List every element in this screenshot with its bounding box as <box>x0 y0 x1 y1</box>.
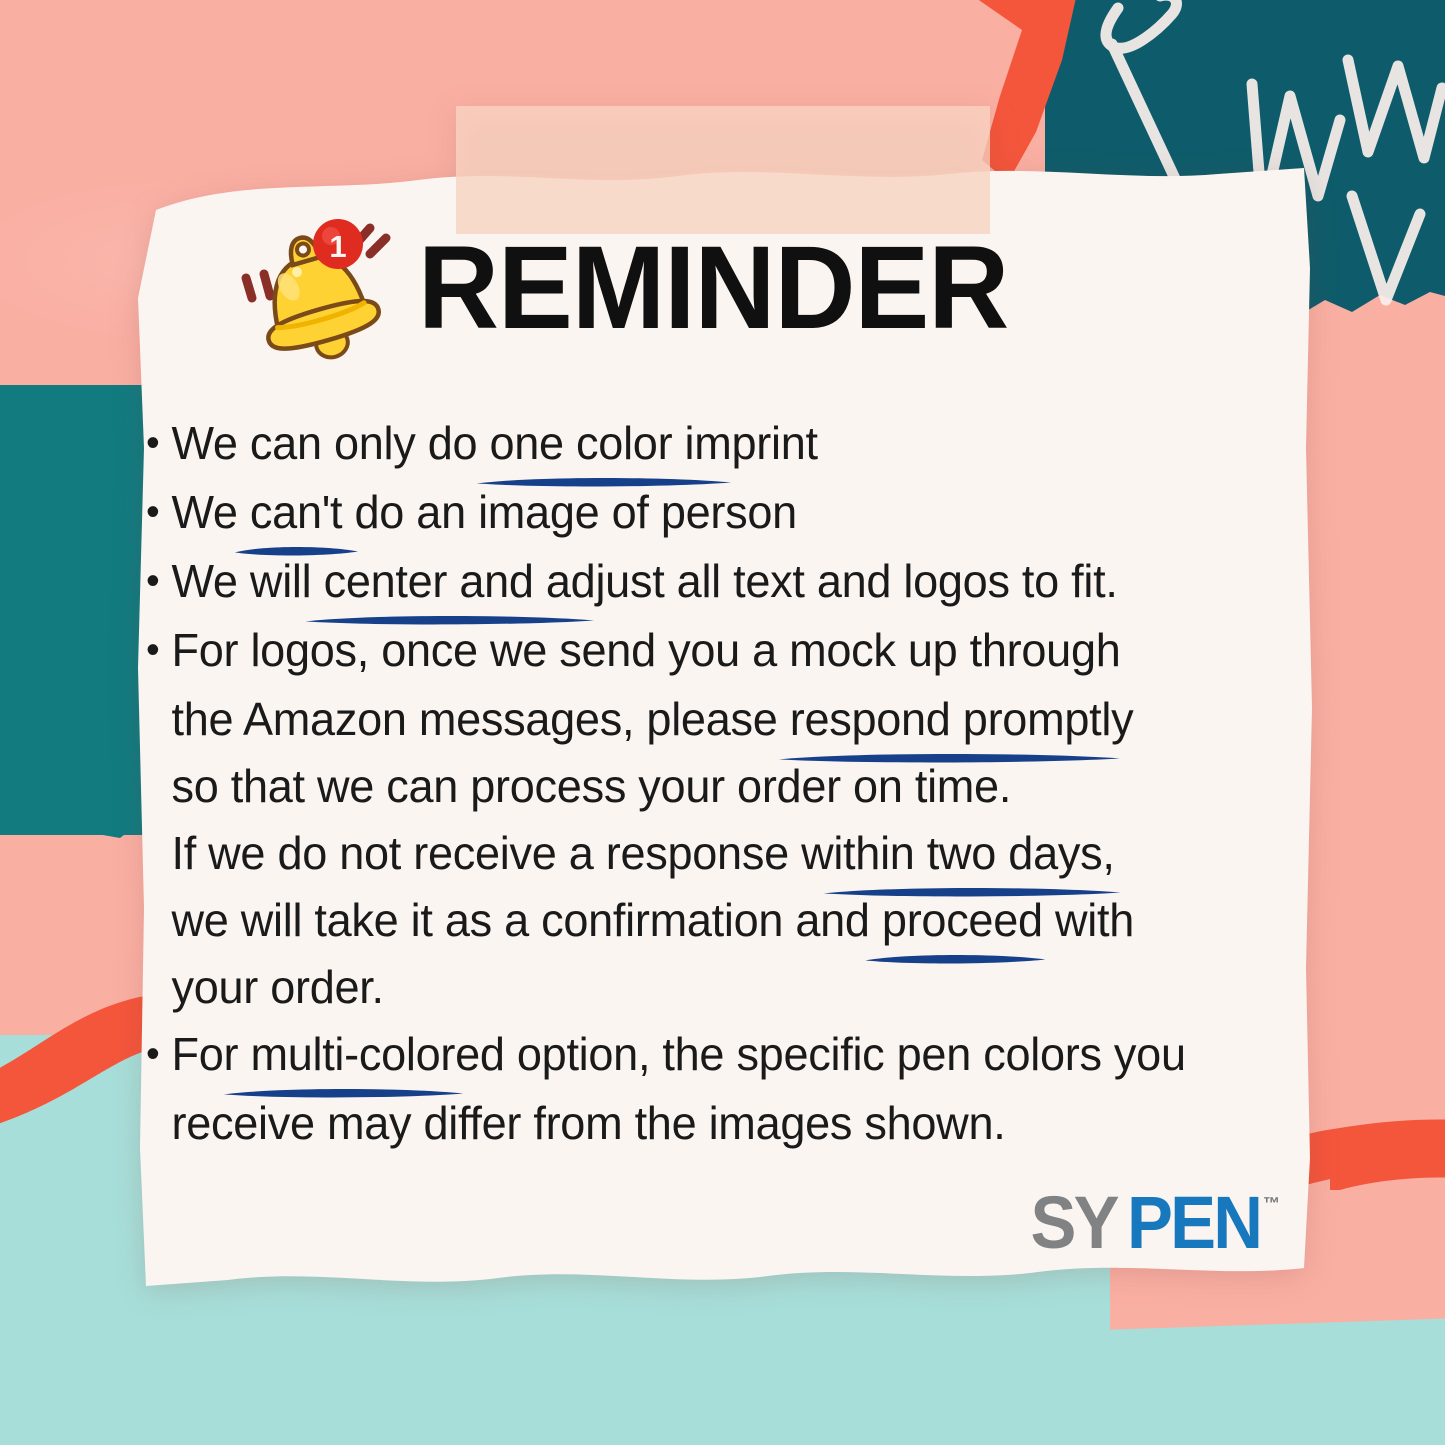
list-item-continuation: we will take it as a confirmation and pr… <box>146 887 1302 954</box>
list-item-label: the Amazon messages, please respond prom… <box>171 693 1133 745</box>
list-item-continuation: receive may differ from the images shown… <box>146 1090 1302 1157</box>
bell-badge-count: 1 <box>329 229 346 264</box>
trademark-symbol: ™ <box>1263 1194 1280 1214</box>
list-item-label: your order. <box>171 961 383 1013</box>
logo-text-pen: PEN <box>1127 1188 1260 1258</box>
list-item-text: We can only do one color imprint <box>171 410 817 477</box>
list-item-label: we will take it as a confirmation and pr… <box>171 894 1134 946</box>
list-bullet: • <box>146 548 171 615</box>
list-item: • We can't do an image of person <box>146 479 1302 546</box>
list-item-label: For multi-colored option, the specific p… <box>171 1028 1185 1080</box>
bell-motion-lines-left <box>246 274 270 298</box>
mint-area-right-bottom <box>1100 1318 1445 1445</box>
sypen-logo: SY PEN ™ <box>1024 1188 1280 1258</box>
notification-bell-icon: 1 <box>230 210 400 365</box>
list-bullet: • <box>146 617 171 684</box>
list-item-text: For logos, once we send you a mock up th… <box>171 617 1302 684</box>
list-bullet: • <box>146 479 171 546</box>
list-item-label: For logos, once we send you a mock up th… <box>171 624 1120 676</box>
list-item-text: For multi-colored option, the specific p… <box>171 1021 1185 1088</box>
bell-badge: 1 <box>313 219 363 269</box>
list-item-label: If we do not receive a response within t… <box>171 827 1114 879</box>
reminder-card: 1 REMINDER • We can only do one color im… <box>118 148 1330 1313</box>
list-item-label: so that we can process your order on tim… <box>171 760 1011 812</box>
list-item-continuation: so that we can process your order on tim… <box>146 753 1302 820</box>
list-item-label: We will center and adjust all text and l… <box>171 555 1117 607</box>
page-title: REMINDER <box>418 229 1008 347</box>
list-bullet: • <box>146 1021 171 1088</box>
list-item-text: We will center and adjust all text and l… <box>171 548 1117 615</box>
list-item: • We can only do one color imprint <box>146 410 1302 477</box>
reminder-list: • We can only do one color imprint • We … <box>146 410 1326 1157</box>
list-item: • We will center and adjust all text and… <box>146 548 1302 615</box>
list-item: • For multi-colored option, the specific… <box>146 1021 1302 1088</box>
list-bullet: • <box>146 410 171 477</box>
list-item-continuation: the Amazon messages, please respond prom… <box>146 686 1302 753</box>
list-item-label: We can't do an image of person <box>171 486 796 538</box>
card-header: 1 REMINDER <box>230 210 1039 365</box>
logo-text-sy: SY <box>1031 1188 1117 1258</box>
list-item-continuation: If we do not receive a response within t… <box>146 820 1302 887</box>
list-item-text: We can't do an image of person <box>171 479 796 546</box>
list-item-label: We can only do one color imprint <box>171 417 817 469</box>
list-item-label: receive may differ from the images shown… <box>171 1097 1005 1149</box>
list-item-continuation: your order. <box>146 954 1302 1021</box>
list-item: • For logos, once we send you a mock up … <box>146 617 1302 684</box>
